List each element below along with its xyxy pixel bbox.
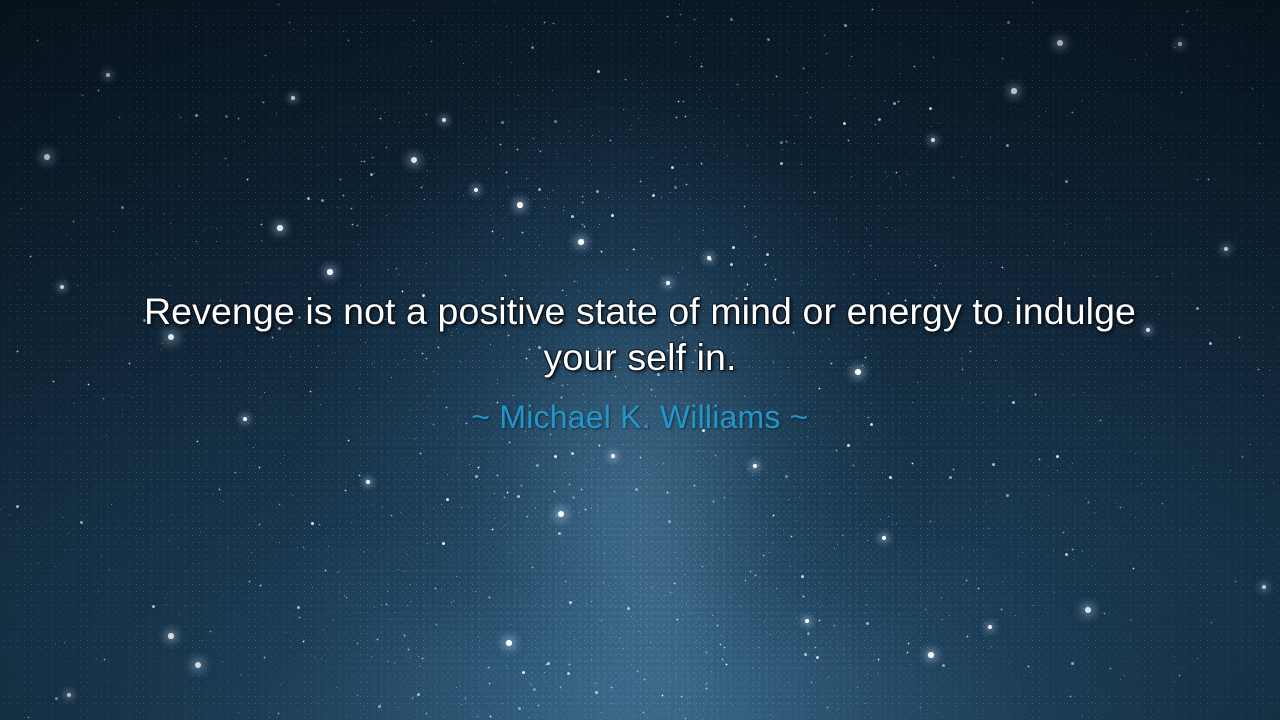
quote-image-canvas: Revenge is not a positive state of mind … [0,0,1280,720]
quote-line-1: Revenge is not a positive state of mind … [98,288,1183,334]
quote-line-2: your self in. [98,334,1183,380]
quote-block: Revenge is not a positive state of mind … [0,288,1280,436]
quote-attribution: ~ Michael K. Williams ~ [0,398,1280,436]
